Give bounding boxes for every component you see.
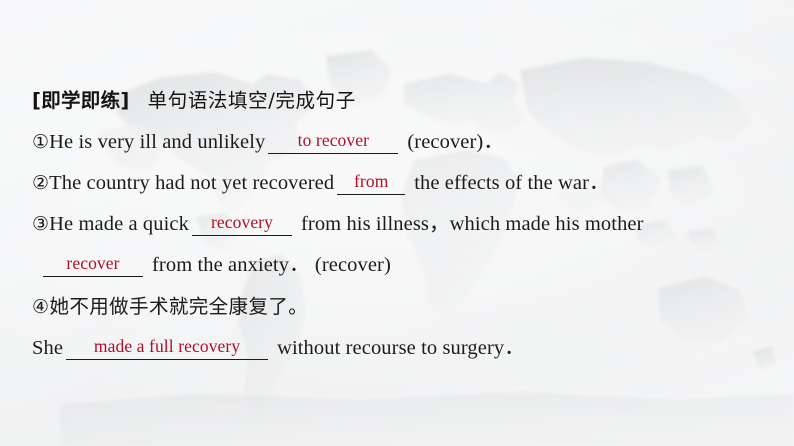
exercise-item-4-chinese: ④她不用做手术就完全康复了。 — [32, 286, 772, 328]
exercise-heading: [即学即练]单句语法填空/完成句子 — [32, 80, 772, 122]
exercise-content: [即学即练]单句语法填空/完成句子 ①He is very ill and un… — [32, 80, 772, 369]
answer-blank-4[interactable]: made a full recovery — [66, 338, 268, 360]
exercise-item-3-continuation: recoverfrom the anxiety． (recover) — [32, 245, 772, 286]
item-text-after-1: (recover)． — [407, 131, 504, 153]
item-marker-2: ② — [32, 172, 49, 194]
item-marker-3: ③ — [32, 213, 49, 235]
exercise-item-4-answer: Shemade a full recoverywithout recourse … — [32, 328, 772, 369]
item-text-before-2: The country had not yet recovered — [49, 172, 334, 194]
exercise-item-2: ②The country had not yet recoveredfromth… — [32, 163, 772, 204]
answer-blank-3[interactable]: recovery — [192, 214, 292, 236]
item-text-after-3b: from the anxiety． (recover) — [152, 254, 391, 276]
item-text-before-3: He made a quick — [49, 213, 189, 235]
exercise-item-3: ③He made a quickrecoveryfrom his illness… — [32, 204, 772, 245]
exercise-item-1: ①He is very ill and unlikelyto recover(r… — [32, 122, 772, 163]
item-marker-4: ④ — [32, 296, 49, 318]
item-text-after-2: the effects of the war． — [414, 172, 609, 194]
item-marker-1: ① — [32, 131, 49, 153]
answer-blank-2[interactable]: from — [337, 173, 405, 195]
slide-canvas: [即学即练]单句语法填空/完成句子 ①He is very ill and un… — [0, 0, 794, 446]
item-text-before-4: She — [32, 337, 63, 359]
item-text-after-3: from his illness，which made his mother — [301, 213, 644, 235]
item-text-after-4: without recourse to surgery． — [277, 337, 525, 359]
answer-blank-3b[interactable]: recover — [43, 255, 143, 277]
heading-subtitle: 单句语法填空/完成句子 — [130, 89, 356, 112]
answer-blank-1[interactable]: to recover — [268, 132, 398, 154]
item-text-before-1: He is very ill and unlikely — [49, 131, 265, 153]
item-chinese-4: 她不用做手术就完全康复了。 — [49, 295, 308, 318]
heading-tag: [即学即练] — [32, 89, 130, 112]
